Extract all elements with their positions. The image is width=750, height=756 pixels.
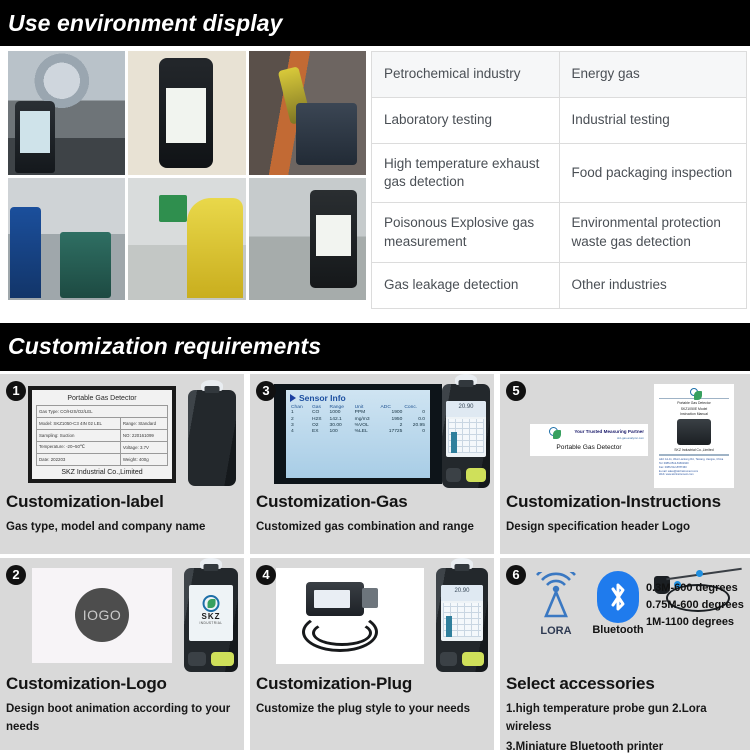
panel-customization-plug: 4 20.90 xyxy=(250,558,494,750)
device-screen: SKZ INDUSTRIAL xyxy=(189,585,233,641)
skz-ring-icon xyxy=(549,427,558,436)
manual-line-2: SKZ1050E Model xyxy=(659,407,729,411)
table-row: Model: SKZ1050-C3 4IN 02 LELRange: Stand… xyxy=(37,417,168,429)
environment-photo-grid xyxy=(8,51,366,309)
panel-media: Portable Gas Detector Gas Type: CO/H2S/O… xyxy=(6,382,238,490)
device-screen: 20.90 xyxy=(441,585,484,641)
table-row: High temperature exhaust gas detection F… xyxy=(372,144,747,203)
application-cell: Laboratory testing xyxy=(372,98,560,144)
table-row: 4 EX 100 %LEL 17725 0 xyxy=(290,428,426,434)
probe-spec: 0.3M-600 degrees xyxy=(646,580,744,597)
sensor-info-screen-image: Sensor Info Chan Gas Range Unit ADC Conc… xyxy=(274,384,442,484)
panel-select-accessories: 6 xyxy=(500,558,750,750)
label-heading: Portable Gas Detector xyxy=(36,393,168,405)
manual-web: Web: www.skzinstrument.com xyxy=(659,473,729,477)
panel-media: Sensor Info Chan Gas Range Unit ADC Conc… xyxy=(256,382,488,490)
probe-spec: 0.75M-600 degrees xyxy=(646,597,744,614)
accessory-bluetooth: Bluetooth xyxy=(590,570,646,636)
manual-product-photo xyxy=(677,419,711,445)
skz-brand-logo: SKZ INDUSTRIAL xyxy=(200,595,223,625)
panel-badge: 5 xyxy=(506,381,526,401)
panel-badge: 2 xyxy=(6,565,26,585)
panel-customization-label: 1 Portable Gas Detector Gas Type: CO/H2S… xyxy=(0,374,244,554)
application-cell: Gas leakage detection xyxy=(372,262,560,308)
manual-company: SKZ Industrial Co.,Limited xyxy=(659,448,729,452)
panel-customization-gas: 3 Sensor Info Chan Gas xyxy=(250,374,494,554)
panel-title: Customization-label xyxy=(6,492,238,512)
photo-technician-testing-exhaust-duct xyxy=(128,178,245,300)
application-cell: Industrial testing xyxy=(559,98,747,144)
manual-line-1: Portable Gas Detector xyxy=(659,401,729,405)
detector-device-rear-image xyxy=(188,390,236,486)
device-button-right[interactable] xyxy=(211,652,234,666)
skz-brand-text: SKZ xyxy=(200,612,223,621)
table-row: Poisonous Explosive gas measurement Envi… xyxy=(372,203,747,262)
panel-title: Select accessories xyxy=(506,674,744,694)
table-row: Laboratory testing Industrial testing xyxy=(372,98,747,144)
panel-media: IOGO SKZ INDUSTRIAL xyxy=(6,566,238,672)
label-cell: NO: 220161099 xyxy=(120,429,167,441)
photo-detector-with-pressure-gauge xyxy=(8,51,125,175)
skz-brand-subtext: INDUSTRIAL xyxy=(200,621,223,625)
accessory-lora: LORA xyxy=(528,570,584,637)
accessory-caption: Bluetooth xyxy=(590,624,646,636)
label-spec-table: Gas Type: CO/H2S/O2/LEL Model: SKZ1050-C… xyxy=(36,405,168,466)
logo-placeholder-image: IOGO xyxy=(32,568,172,663)
customization-panels: 1 Portable Gas Detector Gas Type: CO/H2S… xyxy=(0,371,750,750)
customization-column-2: 3 Sensor Info Chan Gas xyxy=(250,374,494,750)
sensor-cell: 0 xyxy=(403,428,426,434)
specification-header-image: Your Trusted Measuring Partner skz-gas-a… xyxy=(530,424,648,456)
detector-device-front-image: 20.90 xyxy=(436,568,488,672)
panel-subtitle-line2: 3.Miniature Bluetooth printer xyxy=(506,739,744,756)
device-bar-chart xyxy=(448,419,483,453)
sensor-info-heading: Sensor Info xyxy=(290,393,426,403)
panel-title: Customization-Logo xyxy=(6,674,238,694)
application-table: Petrochemical industry Energy gas Labora… xyxy=(371,51,747,309)
sensor-cell: 4 xyxy=(290,428,311,434)
header-slogan: Your Trusted Measuring Partner xyxy=(574,429,644,434)
device-button-row xyxy=(188,652,233,666)
panel-title: Customization-Plug xyxy=(256,674,488,694)
accessory-caption: LORA xyxy=(528,625,584,637)
customization-column-1: 1 Portable Gas Detector Gas Type: CO/H2S… xyxy=(0,374,244,750)
label-footer: SKZ Industrial Co.,Limited xyxy=(36,466,168,476)
table-row: Temperature: -20~50℃Voltage: 3.7V xyxy=(37,441,168,453)
customization-banner-title: Customization requirements xyxy=(8,333,321,360)
manual-line-3: Instruction Manual xyxy=(659,412,729,416)
label-cell: Gas Type: CO/H2S/O2/LEL xyxy=(37,405,168,417)
device-bar-chart xyxy=(443,603,482,637)
device-button-right[interactable] xyxy=(462,652,484,666)
panel-badge: 6 xyxy=(506,565,526,585)
label-cell: Sampling: Suction xyxy=(37,429,121,441)
panel-subtitle: Design boot animation according to your … xyxy=(6,701,238,737)
panel-title: Customization-Instructions xyxy=(506,492,744,512)
panel-subtitle-line1: 1.high temperature probe gun 2.Lora wire… xyxy=(506,701,744,737)
device-screen: 20.90 xyxy=(446,401,485,457)
detector-device-front-image: 20.90 xyxy=(442,384,490,488)
device-button-row xyxy=(440,652,484,666)
environment-banner-title: Use environment display xyxy=(8,10,283,37)
photo-handheld-detector-closeup xyxy=(128,51,245,175)
panel-title: Customization-Gas xyxy=(256,492,488,512)
table-row: Sampling: SuctionNO: 220161099 xyxy=(37,429,168,441)
product-detail-page: Use environment display Petrochemical in… xyxy=(0,0,750,750)
panel-badge: 3 xyxy=(256,381,276,401)
label-cell: Weight: 400g xyxy=(120,453,167,465)
environment-banner: Use environment display xyxy=(0,0,750,46)
application-cell: High temperature exhaust gas detection xyxy=(372,144,560,203)
application-cell: Other industries xyxy=(559,262,747,308)
sensor-cell: %LEL xyxy=(354,428,380,434)
panel-subtitle: Gas type, model and company name xyxy=(6,519,238,537)
product-label-image: Portable Gas Detector Gas Type: CO/H2S/O… xyxy=(28,386,176,483)
sensor-cell: 100 xyxy=(329,428,354,434)
customization-column-3: 5 Your Trusted Measuring Partner skz-gas… xyxy=(500,374,750,750)
device-button-left[interactable] xyxy=(440,652,457,666)
bluetooth-icon xyxy=(597,571,639,623)
skz-ring-icon xyxy=(202,595,219,612)
device-button-row xyxy=(446,468,486,482)
probe-spec-list: 0.3M-600 degrees 0.75M-600 degrees 1M-11… xyxy=(646,574,744,631)
instruction-manual-cover-image: Portable Gas Detector SKZ1050E Model Ins… xyxy=(654,384,734,488)
device-button-right[interactable] xyxy=(466,468,486,482)
photo-detector-mounted-indoor-pipework xyxy=(249,178,366,300)
label-cell: Temperature: -20~50℃ xyxy=(37,441,121,453)
panel-customization-logo: 2 IOGO SKZ INDUSTRIAL xyxy=(0,558,244,750)
header-product-name: Portable Gas Detector xyxy=(534,440,644,451)
application-cell: Environmental protection waste gas detec… xyxy=(559,203,747,262)
customization-banner: Customization requirements xyxy=(0,323,750,371)
power-adapter-image xyxy=(276,568,424,664)
detector-device-front-image: SKZ INDUSTRIAL xyxy=(184,568,238,672)
panel-media: LORA Bluetooth xyxy=(506,566,744,672)
panel-media: Your Trusted Measuring Partner skz-gas-a… xyxy=(506,382,744,490)
label-cell: Model: SKZ1050-C3 4IN 02 LEL xyxy=(37,417,121,429)
table-row: Petrochemical industry Energy gas xyxy=(372,52,747,98)
label-cell: Date: 202203 xyxy=(37,453,121,465)
sensor-info-title: Sensor Info xyxy=(299,393,346,403)
device-button-left[interactable] xyxy=(188,652,206,666)
panel-media: 20.90 xyxy=(256,566,488,672)
sensor-info-table: Chan Gas Range Unit ADC Conc. 1 CO xyxy=(290,405,426,435)
sensor-cell: EX xyxy=(311,428,329,434)
probe-spec: 1M-1100 degrees xyxy=(646,614,744,631)
play-triangle-icon xyxy=(290,394,296,402)
panel-subtitle: Customized gas combination and range xyxy=(256,519,488,537)
label-cell: Range: Standard xyxy=(120,417,167,429)
panel-badge: 1 xyxy=(6,381,26,401)
sensor-cell: 17725 xyxy=(380,428,404,434)
panel-badge: 4 xyxy=(256,565,276,585)
application-cell: Petrochemical industry xyxy=(372,52,560,98)
photo-outdoor-multi-detector-test xyxy=(249,51,366,175)
lora-antenna-icon xyxy=(528,570,584,624)
skz-ring-icon xyxy=(690,388,698,396)
application-cell: Poisonous Explosive gas measurement xyxy=(372,203,560,262)
table-row: Gas Type: CO/H2S/O2/LEL xyxy=(37,405,168,417)
logo-placeholder-text: IOGO xyxy=(75,588,129,642)
device-button-left[interactable] xyxy=(446,468,461,482)
panel-customization-instructions: 5 Your Trusted Measuring Partner skz-gas… xyxy=(500,374,750,554)
environment-content: Petrochemical industry Energy gas Labora… xyxy=(0,46,750,315)
panel-subtitle: Design specification header Logo xyxy=(506,519,744,537)
application-cell: Food packaging inspection xyxy=(559,144,747,203)
panel-subtitle: Customize the plug style to your needs xyxy=(256,701,488,719)
label-cell: Voltage: 3.7V xyxy=(120,441,167,453)
application-cell: Energy gas xyxy=(559,52,747,98)
table-row: Date: 202203Weight: 400g xyxy=(37,453,168,465)
table-row: Gas leakage detection Other industries xyxy=(372,262,747,308)
photo-worker-in-blue-helmet-testing xyxy=(8,178,125,300)
